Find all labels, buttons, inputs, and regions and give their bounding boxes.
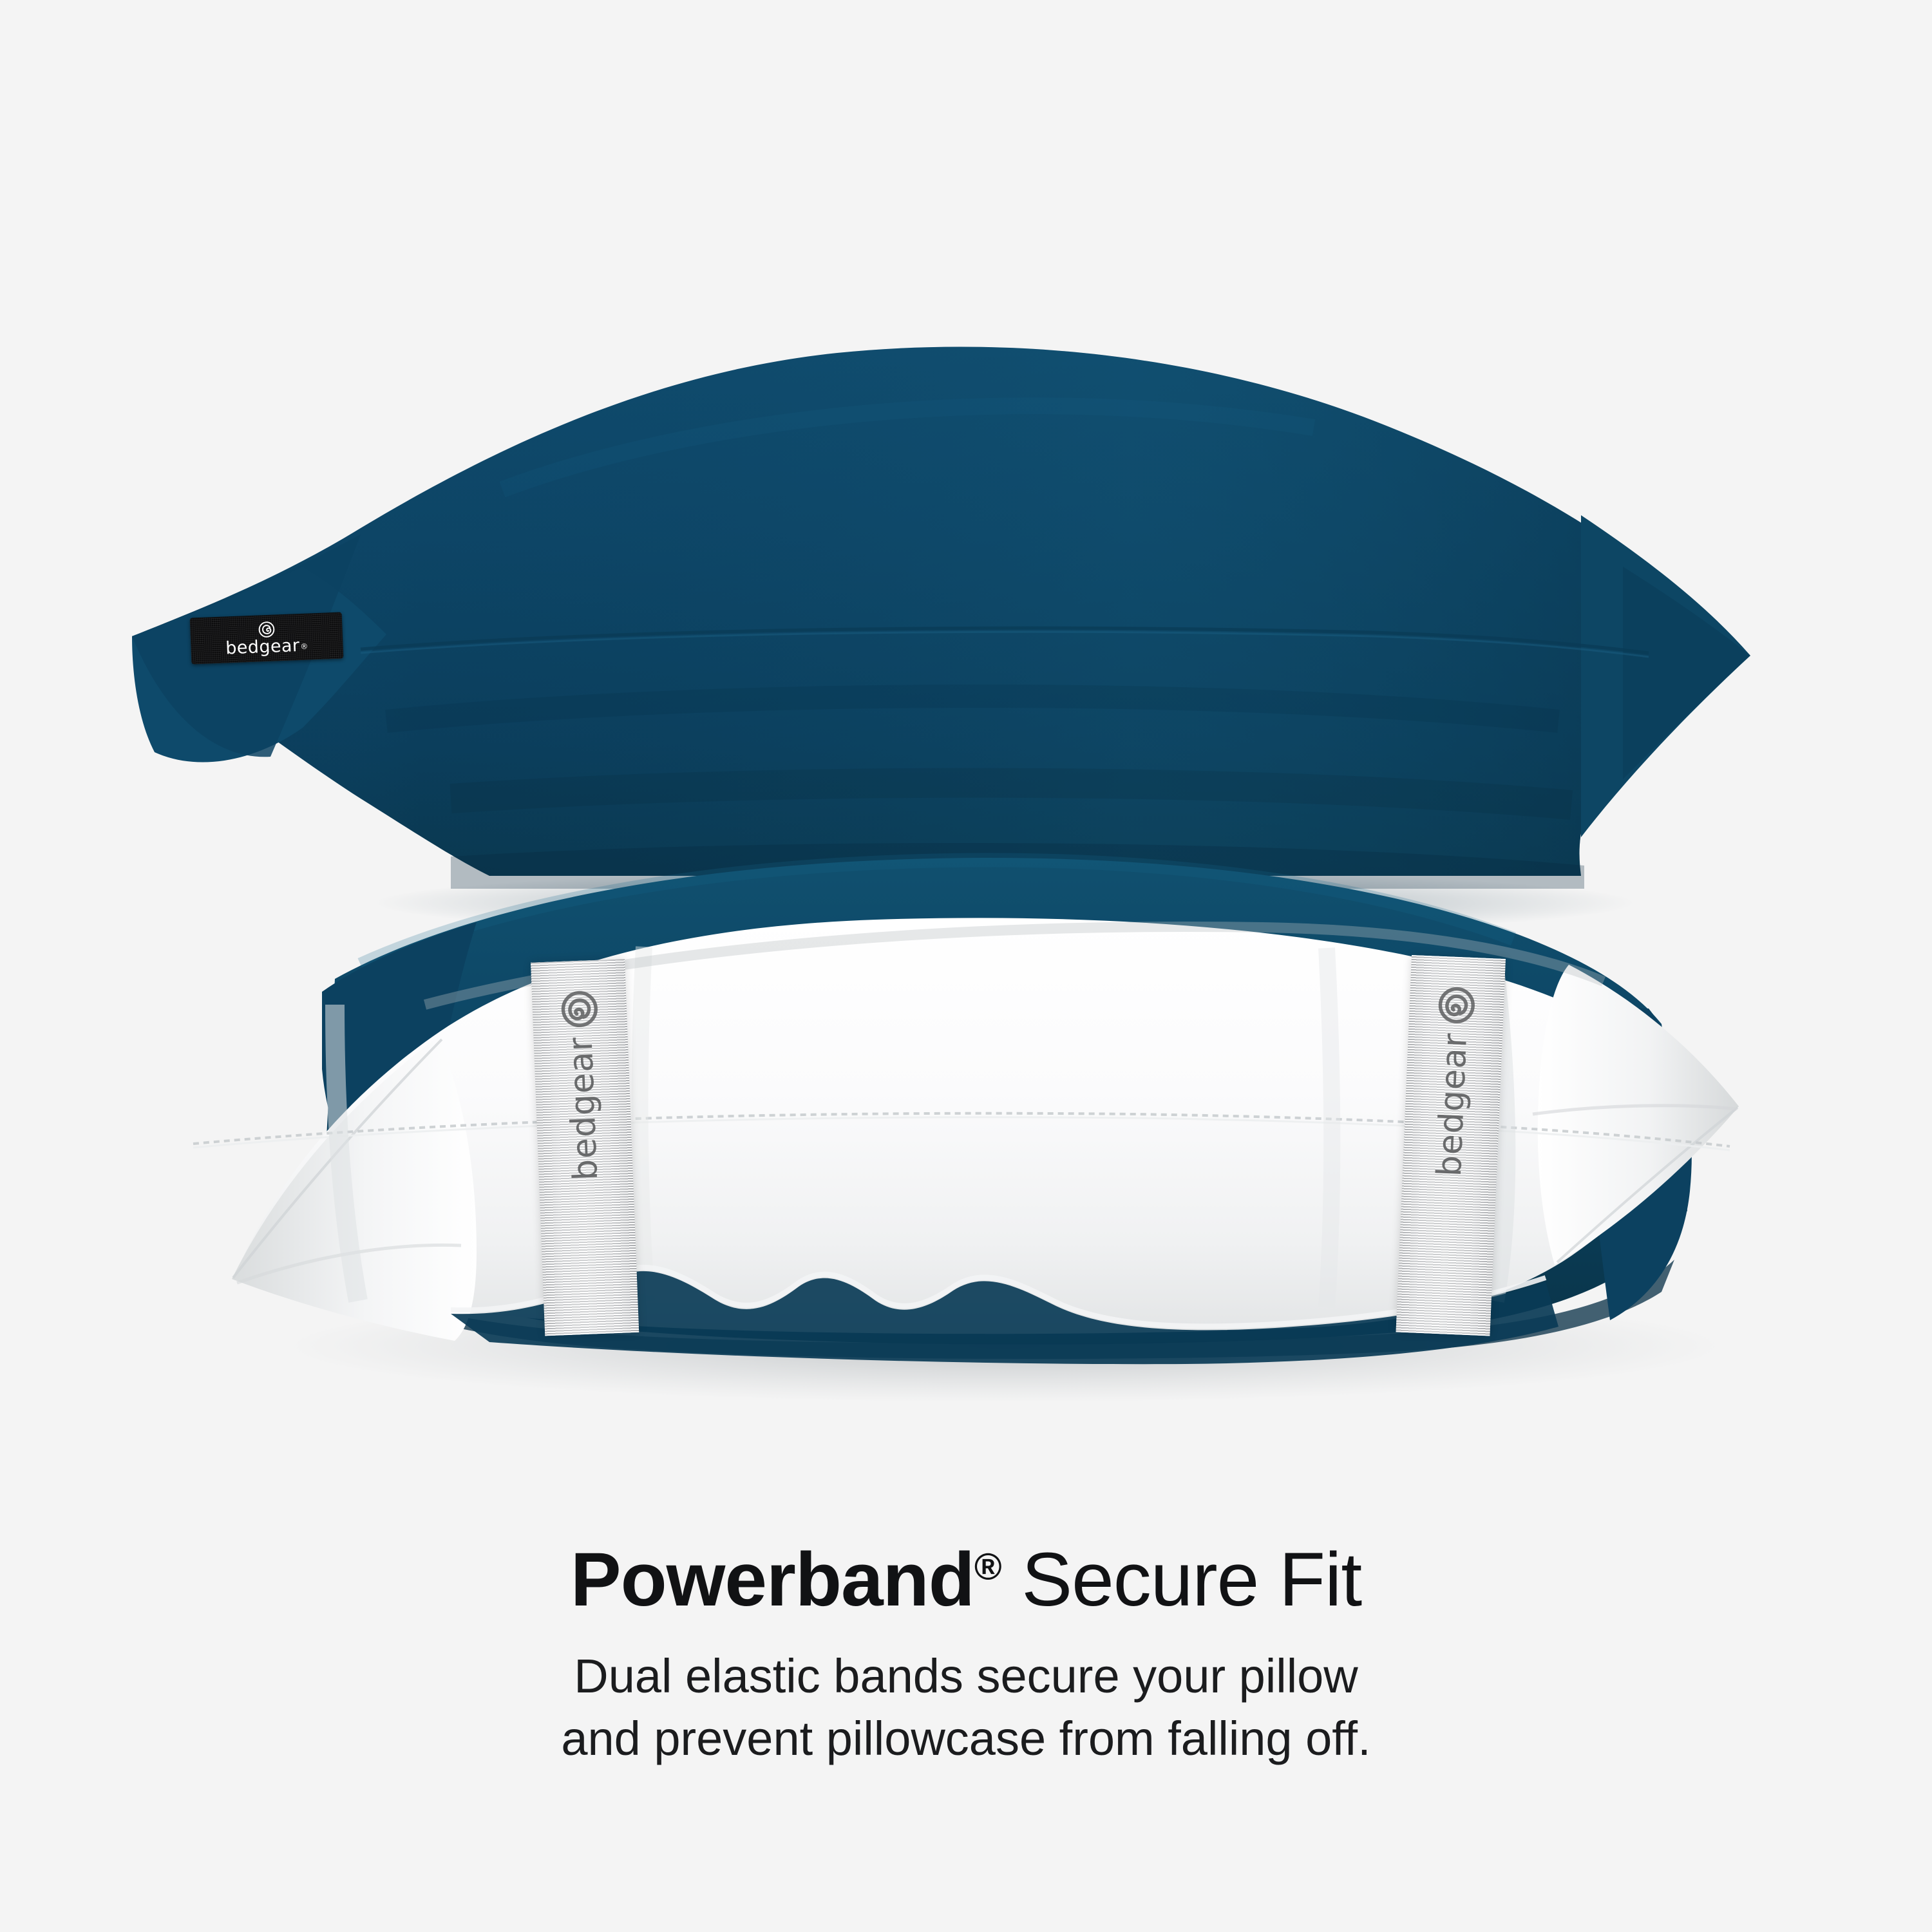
headline-rest: Secure Fit <box>1001 1537 1362 1622</box>
subcopy-line-2: and prevent pillowcase from falling off. <box>0 1708 1932 1770</box>
subcopy-line-1: Dual elastic bands secure your pillow <box>0 1645 1932 1707</box>
headline-registered-mark: ® <box>974 1546 1001 1588</box>
subcopy: Dual elastic bands secure your pillow an… <box>0 1645 1932 1769</box>
lower-pillow <box>193 858 1739 1364</box>
powerband-right-label: bedgear <box>1430 1032 1475 1178</box>
headline-brand: Powerband <box>571 1537 974 1622</box>
upper-pillow-navy <box>132 346 1750 889</box>
bedgear-tag-registered: ® <box>300 642 308 650</box>
pillow-illustration <box>0 0 1932 1481</box>
powerband-right: bedgear <box>1396 955 1506 1336</box>
powerband-left: bedgear <box>531 959 639 1336</box>
bedgear-brand-tag: bedgear® <box>190 612 344 664</box>
product-feature-image: bedgear® bedgear bedgear <box>0 0 1932 1932</box>
powerband-left-swirl-icon <box>560 990 599 1028</box>
bedgear-tag-text: bedgear <box>225 637 300 657</box>
caption-block: Powerband® Secure Fit Dual elastic bands… <box>0 1539 1932 1770</box>
bedgear-swirl-icon <box>258 621 274 638</box>
powerband-left-label: bedgear <box>562 1036 606 1181</box>
powerband-right-swirl-icon <box>1437 986 1476 1025</box>
bedgear-tag-wordmark: bedgear® <box>225 636 308 657</box>
pillow-scene: bedgear® bedgear bedgear <box>0 0 1932 1481</box>
headline: Powerband® Secure Fit <box>0 1539 1932 1621</box>
